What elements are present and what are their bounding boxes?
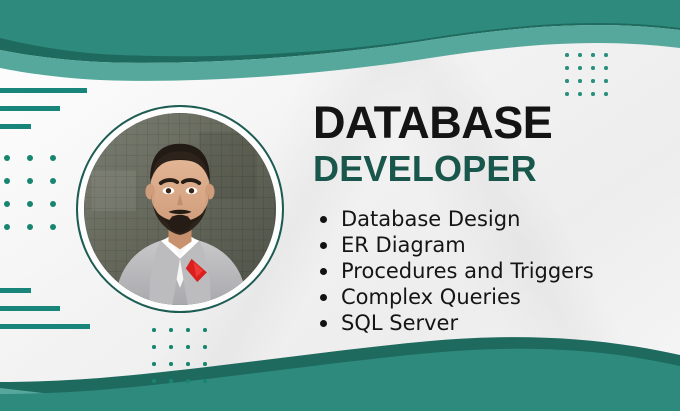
decor-dot [604,92,608,96]
decor-dot [578,79,582,83]
decor-dot [186,345,190,349]
list-item: Complex Queries [313,284,663,310]
decor-line [0,306,60,311]
decor-dot [152,345,156,349]
decor-dot [565,66,569,70]
decor-dot [4,178,10,184]
decor-line [0,88,87,93]
decor-dot [565,92,569,96]
top-wave-main [0,0,680,56]
list-item: SQL Server [313,310,663,336]
decor-dot [591,53,595,57]
decor-dots-bottom [152,328,220,396]
decor-dot [604,66,608,70]
decor-dot [50,155,56,161]
decor-dot [27,155,33,161]
bottom-wave-main [0,349,680,411]
decor-dot [565,53,569,57]
decor-dot [565,79,569,83]
decor-dot [152,328,156,332]
decor-dot [578,92,582,96]
decor-dot [27,178,33,184]
decor-dot [27,224,33,230]
decor-dot [591,92,595,96]
avatar [76,105,284,313]
decor-dot [4,224,10,230]
decor-dot [203,345,207,349]
decor-dot [203,328,207,332]
decor-dot [203,362,207,366]
decor-line [0,124,31,129]
list-item: Database Design [313,206,663,232]
portrait-illustration [84,113,276,305]
headline-block: DATABASE DEVELOPER Database Design ER Di… [313,100,663,336]
decor-dot [186,328,190,332]
decor-dot [591,66,595,70]
decor-line [0,324,90,329]
decor-dot [591,79,595,83]
decor-dot [186,362,190,366]
decor-dot [50,201,56,207]
decor-dot [169,379,173,383]
decor-dot [27,201,33,207]
decor-dots-left [4,155,73,247]
decor-lines-bottom [0,288,90,342]
portrait-photo [84,113,276,305]
decor-dot [578,66,582,70]
list-item: Procedures and Triggers [313,258,663,284]
decor-lines-top [0,88,87,142]
decor-line [0,106,60,111]
decor-dot [604,79,608,83]
decor-dot [4,155,10,161]
decor-dot [152,362,156,366]
page-title: DATABASE [313,100,663,146]
decor-dot [578,53,582,57]
decor-dot [50,224,56,230]
decor-dot [604,53,608,57]
gig-thumbnail-card: DATABASE DEVELOPER Database Design ER Di… [0,0,680,411]
service-list: Database Design ER Diagram Procedures an… [313,206,663,336]
decor-dot [169,328,173,332]
decor-dots-top-right [565,53,617,105]
page-subtitle: DEVELOPER [313,148,663,190]
decor-line [0,288,31,293]
decor-dot [169,362,173,366]
decor-dot [203,379,207,383]
decor-dot [186,379,190,383]
decor-dot [152,379,156,383]
list-item: ER Diagram [313,232,663,258]
decor-dot [50,178,56,184]
decor-dot [4,201,10,207]
bottom-wave-dark [0,337,680,411]
decor-dot [169,345,173,349]
